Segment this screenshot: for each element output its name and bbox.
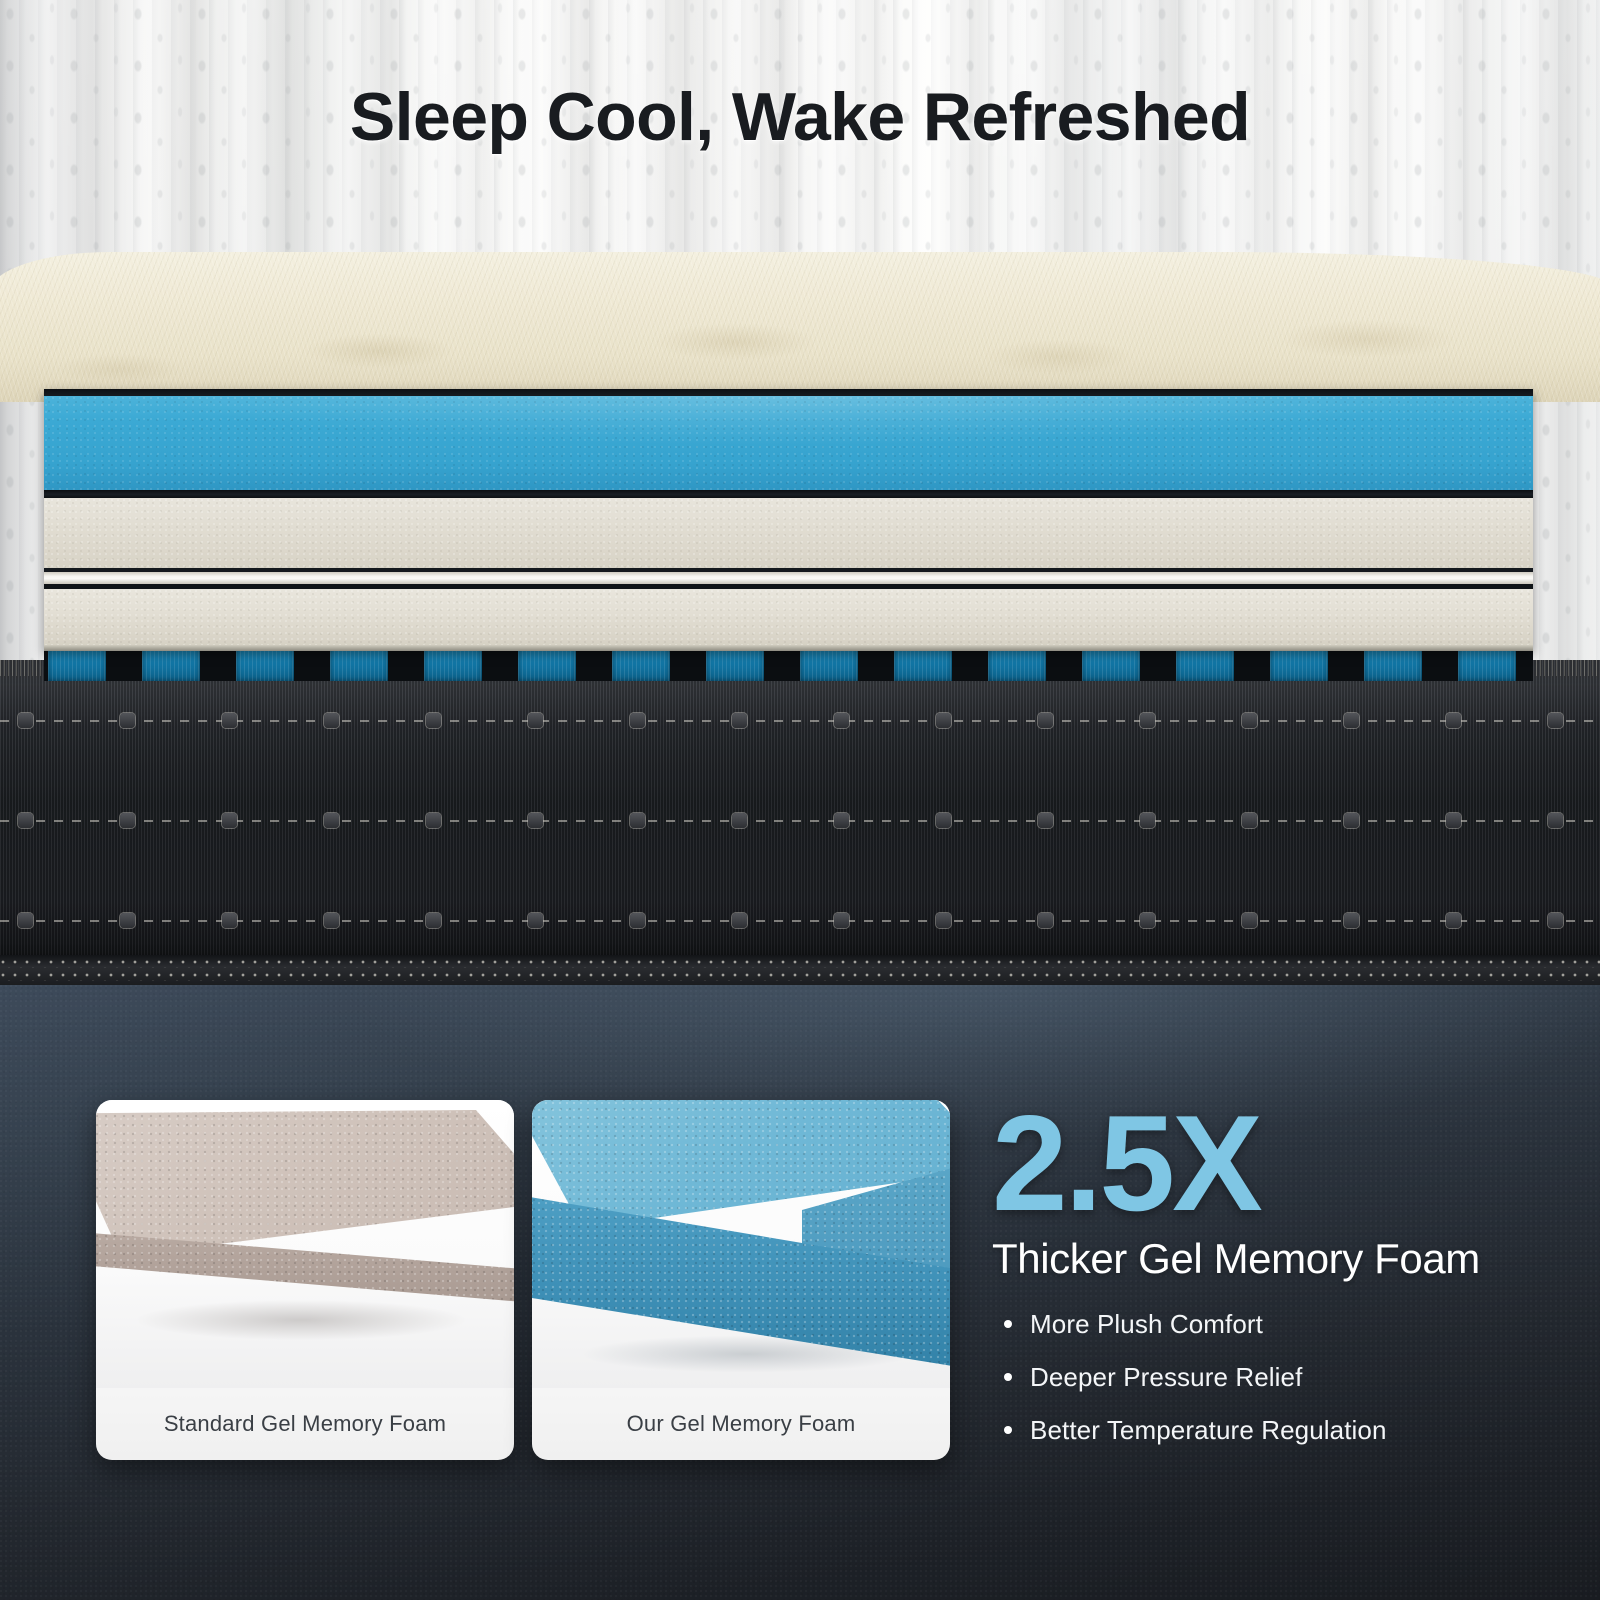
benefit-list: More Plush Comfort Deeper Pressure Relie… xyxy=(992,1309,1552,1446)
side-panel-dot xyxy=(1038,913,1053,928)
side-panel-dot xyxy=(732,713,747,728)
side-panel-dot xyxy=(222,813,237,828)
quilted-pillowtop xyxy=(0,252,1600,402)
layer-edge-bottom xyxy=(44,645,1533,651)
gel-memory-foam-layer xyxy=(44,396,1533,490)
knit-side-panel xyxy=(0,660,1600,970)
side-panel-dot xyxy=(1548,913,1563,928)
side-panel-dot xyxy=(1344,913,1359,928)
side-panel-dot xyxy=(834,913,849,928)
mattress-cutaway-photo: Sleep Cool, Wake Refreshed xyxy=(0,0,1600,1010)
foam-layer-stack xyxy=(44,389,1533,651)
side-panel-dot xyxy=(18,913,33,928)
side-panel-dot xyxy=(1344,813,1359,828)
multiplier-headline: 2.5X xyxy=(992,1098,1552,1229)
side-panel-dot xyxy=(1140,713,1155,728)
side-panel-dot xyxy=(120,713,135,728)
side-panel-dot xyxy=(936,813,951,828)
side-panel-dot xyxy=(426,813,441,828)
transition-stripe-layer xyxy=(44,572,1533,584)
side-panel-dot xyxy=(324,813,339,828)
side-panel-dot xyxy=(834,713,849,728)
our-foam-image xyxy=(532,1100,950,1388)
side-panel-dot-row xyxy=(0,712,1600,730)
foam-texture xyxy=(44,589,1533,645)
foam-comparison-cards: Standard Gel Memory Foam Our Gel Memory … xyxy=(96,1100,950,1460)
side-panel-dot xyxy=(222,913,237,928)
card-standard-foam[interactable]: Standard Gel Memory Foam xyxy=(96,1100,514,1460)
side-panel-dot xyxy=(1242,713,1257,728)
side-panel-dot-row xyxy=(0,812,1600,830)
side-panel-dot xyxy=(732,913,747,928)
gel-foam-texture xyxy=(44,396,1533,490)
standard-foam-image xyxy=(96,1100,514,1388)
pillowtop-texture xyxy=(0,252,1600,402)
side-panel-dot xyxy=(1446,913,1461,928)
side-panel-dot xyxy=(1140,813,1155,828)
layer-edge-top xyxy=(44,389,1533,396)
side-panel-dot xyxy=(1242,913,1257,928)
side-panel-dot xyxy=(1140,913,1155,928)
benefit-item: More Plush Comfort xyxy=(992,1309,1552,1340)
side-panel-dot xyxy=(528,813,543,828)
side-panel-dot xyxy=(630,713,645,728)
side-panel-dot xyxy=(120,913,135,928)
benefit-item: Better Temperature Regulation xyxy=(992,1415,1552,1446)
side-panel-dot xyxy=(426,713,441,728)
side-panel-dot xyxy=(1038,713,1053,728)
side-panel-dot xyxy=(834,813,849,828)
claim-subtitle: Thicker Gel Memory Foam xyxy=(992,1235,1552,1283)
side-panel-dot xyxy=(528,913,543,928)
standard-foam-slab xyxy=(96,1110,514,1340)
side-panel-dot xyxy=(630,913,645,928)
side-panel-dot xyxy=(18,813,33,828)
side-panel-dot xyxy=(1344,713,1359,728)
layer-divider xyxy=(44,490,1533,498)
side-panel-dot xyxy=(120,813,135,828)
side-panel-dot xyxy=(1038,813,1053,828)
mattress-piping-trim xyxy=(0,955,1600,989)
side-panel-dot xyxy=(732,813,747,828)
side-panel-dot xyxy=(324,913,339,928)
side-panel-dot xyxy=(1548,713,1563,728)
product-infographic: Sleep Cool, Wake Refreshed Standard Gel … xyxy=(0,0,1600,1600)
side-panel-dot xyxy=(630,813,645,828)
side-panel-dot xyxy=(324,713,339,728)
card-our-foam[interactable]: Our Gel Memory Foam xyxy=(532,1100,950,1460)
side-panel-dot-row xyxy=(0,912,1600,930)
side-panel-dot xyxy=(936,713,951,728)
side-panel-dot xyxy=(222,713,237,728)
card-label-ours: Our Gel Memory Foam xyxy=(532,1388,950,1460)
comfort-foam-upper-layer xyxy=(44,498,1533,568)
side-panel-dot xyxy=(936,913,951,928)
side-panel-dot xyxy=(1446,713,1461,728)
side-panel-dot xyxy=(1548,813,1563,828)
our-foam-slab xyxy=(532,1100,950,1384)
side-panel-dot xyxy=(426,913,441,928)
side-panel-dot xyxy=(528,713,543,728)
side-panel-dot xyxy=(1242,813,1257,828)
claim-block: 2.5X Thicker Gel Memory Foam More Plush … xyxy=(992,1098,1552,1468)
foam-texture xyxy=(44,498,1533,568)
side-panel-dot xyxy=(1446,813,1461,828)
page-title: Sleep Cool, Wake Refreshed xyxy=(0,78,1600,156)
card-label-standard: Standard Gel Memory Foam xyxy=(96,1388,514,1460)
support-foam-lower-layer xyxy=(44,589,1533,645)
side-panel-dot xyxy=(18,713,33,728)
benefit-item: Deeper Pressure Relief xyxy=(992,1362,1552,1393)
